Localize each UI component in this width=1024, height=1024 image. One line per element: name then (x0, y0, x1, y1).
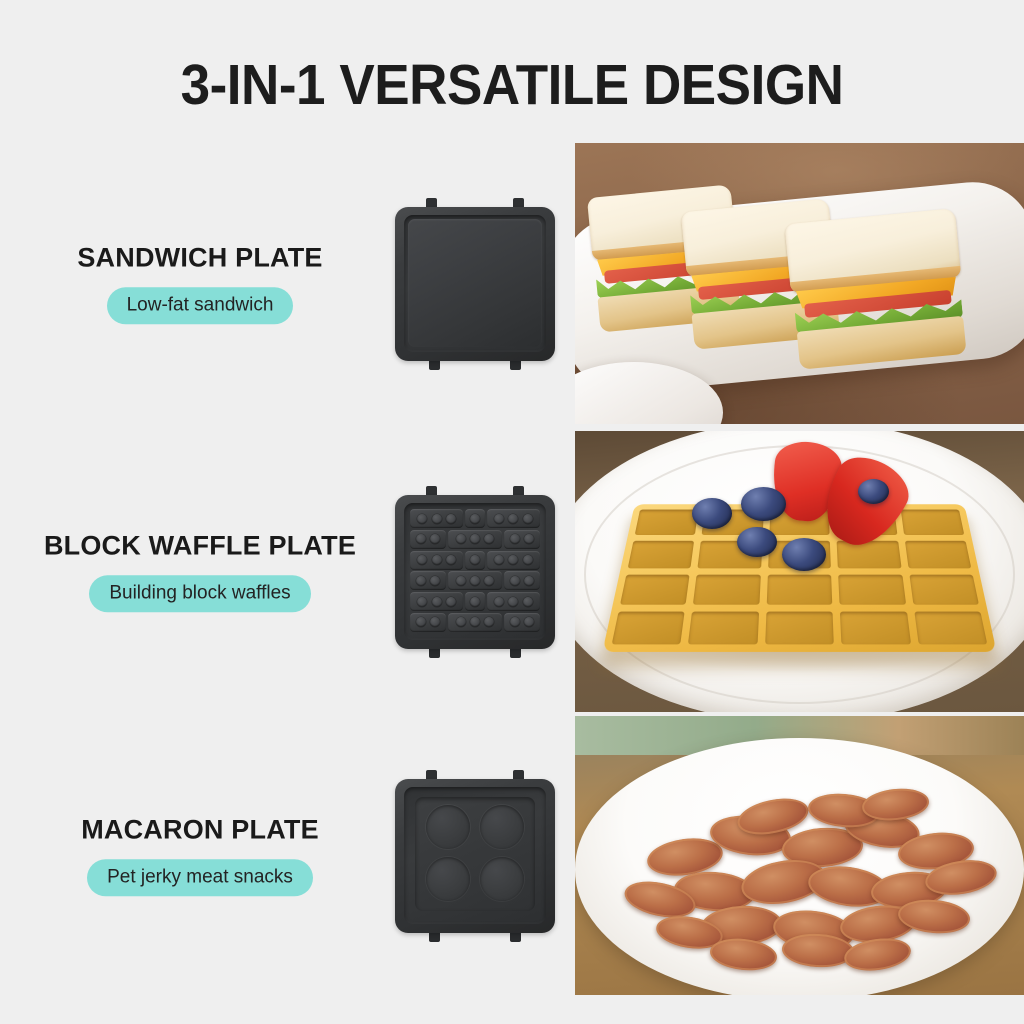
waffle-pocket (766, 575, 832, 605)
waffle-pocket (612, 612, 685, 645)
brick-cavity (410, 509, 463, 528)
page-title: 3-IN-1 VERSATILE DESIGN (36, 52, 988, 118)
brick-stud (524, 534, 534, 544)
round-cavity-grid (423, 804, 527, 903)
brick-cavity (487, 551, 540, 570)
plate-tab-bottom-right (510, 361, 521, 370)
waffle-pocket (909, 575, 979, 605)
brick-stud (494, 514, 504, 524)
brick-row (410, 509, 540, 529)
brick-cavity (410, 530, 446, 549)
waffle-pocket (837, 541, 901, 569)
brick-stud (510, 576, 520, 586)
brick-cavity (410, 613, 446, 632)
macaron-plate-icon (395, 770, 555, 942)
feature-row-waffle: BLOCK WAFFLE PLATE Building block waffle… (0, 431, 1024, 712)
brick-stud (470, 514, 480, 524)
plate-inner-surface (404, 787, 546, 924)
brick-stud (416, 534, 426, 544)
brick-stud (456, 534, 466, 544)
brick-stud (456, 617, 466, 627)
block-waffle-plate-icon (395, 486, 555, 658)
brick-stud (470, 597, 480, 607)
brick-cavity (448, 530, 501, 549)
waffle-food (602, 504, 996, 652)
text-block-macaron: MACARON PLATE Pet jerky meat snacks (20, 815, 380, 896)
brick-stud (508, 555, 518, 565)
brick-stud (430, 576, 440, 586)
waffle-pocket (688, 612, 759, 645)
brick-cavity-grid (409, 508, 541, 634)
plate-inner-surface (404, 215, 546, 352)
brick-stud (508, 597, 518, 607)
brick-stud (446, 555, 456, 565)
brick-stud (456, 576, 466, 586)
brick-stud (430, 617, 440, 627)
brick-cavity (504, 571, 540, 590)
plate-title-waffle: BLOCK WAFFLE PLATE (20, 531, 380, 561)
brick-cavity (487, 592, 540, 611)
brick-cavity (487, 509, 540, 528)
brick-cavity (410, 551, 463, 570)
waffle-pocket (914, 612, 987, 645)
brick-stud (432, 555, 442, 565)
brick-cavity (465, 551, 485, 570)
brick-stud (470, 617, 480, 627)
plate-body (395, 779, 555, 933)
brick-cavity (504, 613, 540, 632)
brick-stud (510, 534, 520, 544)
brick-stud (417, 514, 427, 524)
brick-stud (416, 617, 426, 627)
brick-cavity (504, 530, 540, 549)
text-block-sandwich: SANDWICH PLATE Low-fat sandwich (20, 243, 380, 324)
waffle-pocket (620, 575, 690, 605)
sandwich-plate-icon (395, 198, 555, 370)
waffle-pocket (840, 612, 911, 645)
blueberry-5 (858, 479, 889, 504)
badge-waffle: Building block waffles (89, 575, 310, 612)
brick-stud (510, 617, 520, 627)
waffle-pocket (838, 575, 905, 605)
waffle-pocket (900, 510, 964, 535)
blueberry-3 (737, 527, 777, 558)
brick-stud (524, 576, 534, 586)
brick-stud (417, 597, 427, 607)
plate-title-sandwich: SANDWICH PLATE (20, 243, 380, 273)
feature-row-macaron: MACARON PLATE Pet jerky meat snacks Pile… (0, 716, 1024, 995)
badge-macaron: Pet jerky meat snacks (87, 859, 313, 896)
plate-body (395, 207, 555, 361)
recessed-macaron-surface (415, 797, 535, 911)
brick-stud (432, 514, 442, 524)
brick-cavity (465, 592, 485, 611)
macaron-cavity (426, 857, 470, 901)
brick-row (410, 612, 540, 632)
brick-cavity (465, 509, 485, 528)
brick-stud (446, 597, 456, 607)
brick-stud (484, 617, 494, 627)
brick-cavity (448, 571, 501, 590)
feature-row-sandwich: SANDWICH PLATE Low-fat sandwich (0, 143, 1024, 424)
waffle-pocket (635, 510, 699, 535)
brick-cavity (448, 613, 501, 632)
plate-inner-surface (404, 503, 546, 640)
brick-stud (446, 514, 456, 524)
brick-stud (417, 555, 427, 565)
brick-stud (416, 576, 426, 586)
brick-stud (524, 617, 534, 627)
photo-waffle: Golden square waffle topped with strawbe… (575, 431, 1024, 712)
plate-tab-bottom-left (429, 649, 440, 658)
brick-row (410, 550, 540, 570)
brick-stud (494, 555, 504, 565)
badge-sandwich: Low-fat sandwich (107, 287, 294, 324)
macaron-cavity (480, 805, 524, 849)
brick-stud (430, 534, 440, 544)
brick-cavity (410, 592, 463, 611)
brick-stud (470, 555, 480, 565)
waffle-pocket (628, 541, 695, 569)
plate-tab-bottom-left (429, 361, 440, 370)
brick-stud (508, 514, 518, 524)
waffle-pocket (693, 575, 760, 605)
brick-stud (432, 597, 442, 607)
brick-stud (494, 597, 504, 607)
sandwich-3 (784, 208, 968, 370)
flat-griddle-surface (408, 219, 542, 347)
photo-sandwiches: Three layered sandwiches with cheese, to… (575, 143, 1024, 424)
brick-stud (523, 555, 533, 565)
brick-stud (484, 576, 494, 586)
brick-stud (470, 576, 480, 586)
plate-tab-bottom-left (429, 933, 440, 942)
brick-stud (484, 534, 494, 544)
waffle-pocket (765, 612, 834, 645)
brick-row (410, 529, 540, 549)
plate-tab-bottom-right (510, 649, 521, 658)
plate-tab-bottom-right (510, 933, 521, 942)
waffle-pocket (905, 541, 972, 569)
plate-title-macaron: MACARON PLATE (20, 815, 380, 845)
blueberry-2 (741, 487, 786, 521)
brick-stud (523, 514, 533, 524)
brick-row (410, 592, 540, 612)
text-block-waffle: BLOCK WAFFLE PLATE Building block waffle… (20, 531, 380, 612)
brick-row (410, 571, 540, 591)
photo-jerky: Pile of round dried meat jerky slices on… (575, 716, 1024, 995)
macaron-cavity (426, 805, 470, 849)
plate-body (395, 495, 555, 649)
brick-cavity (410, 571, 446, 590)
infographic-page: 3-IN-1 VERSATILE DESIGN SANDWICH PLATE L… (0, 0, 1024, 1024)
brick-stud (523, 597, 533, 607)
brick-stud (470, 534, 480, 544)
macaron-cavity (480, 857, 524, 901)
